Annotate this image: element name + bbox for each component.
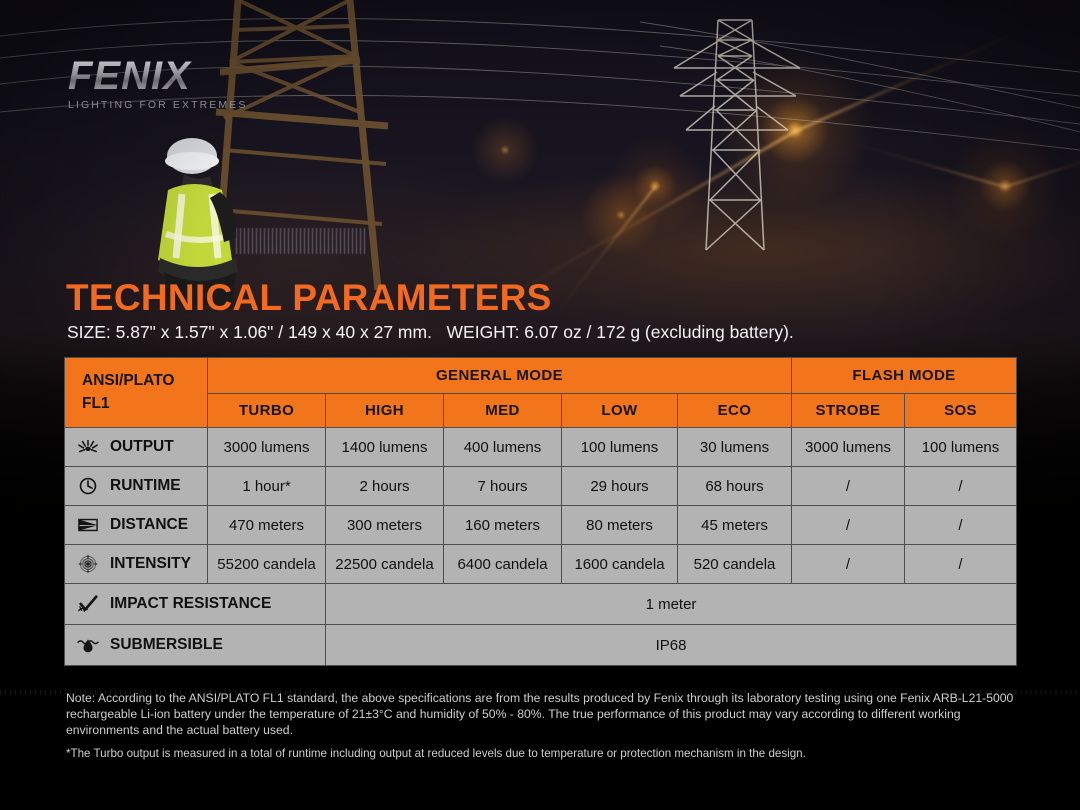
- cell-intensity-sos: /: [905, 545, 1017, 584]
- size-weight-subtitle: SIZE: 5.87" x 1.57" x 1.06" / 149 x 40 x…: [67, 322, 794, 343]
- row-label-text: IMPACT RESISTANCE: [110, 595, 271, 613]
- cell-intensity-eco: 520 candela: [678, 545, 792, 584]
- impact-check-icon: [75, 593, 101, 615]
- cell-runtime-eco: 68 hours: [678, 467, 792, 506]
- cell-distance-sos: /: [905, 506, 1017, 545]
- mode-header-med: MED: [444, 394, 562, 428]
- page-title: TECHNICAL PARAMETERS: [66, 277, 552, 319]
- mode-header-low: LOW: [562, 394, 678, 428]
- row-label-intensity: INTENSITY: [65, 545, 208, 584]
- table-row: RUNTIME 1 hour* 2 hours 7 hours 29 hours…: [65, 467, 1017, 506]
- cell-intensity-med: 6400 candela: [444, 545, 562, 584]
- product-spec-banner: FENIX LIGHTING FOR EXTREMES TECHNICAL PA…: [0, 0, 1080, 810]
- cell-intensity-high: 22500 candela: [326, 545, 444, 584]
- row-label-impact-resistance: IMPACT RESISTANCE: [65, 584, 326, 625]
- mode-header-high: HIGH: [326, 394, 444, 428]
- cell-runtime-low: 29 hours: [562, 467, 678, 506]
- table-row: INTENSITY 55200 candela 22500 candela 64…: [65, 545, 1017, 584]
- cell-distance-turbo: 470 meters: [208, 506, 326, 545]
- cell-runtime-high: 2 hours: [326, 467, 444, 506]
- row-label-text: SUBMERSIBLE: [110, 636, 223, 654]
- row-label-text: DISTANCE: [110, 516, 188, 534]
- brand-tagline: LIGHTING FOR EXTREMES: [68, 99, 298, 111]
- row-label-text: INTENSITY: [110, 555, 191, 573]
- cell-output-low: 100 lumens: [562, 428, 678, 467]
- table-row: OUTPUT 3000 lumens 1400 lumens 400 lumen…: [65, 428, 1017, 467]
- cell-distance-high: 300 meters: [326, 506, 444, 545]
- table-row: DISTANCE 470 meters 300 meters 160 meter…: [65, 506, 1017, 545]
- cell-runtime-med: 7 hours: [444, 467, 562, 506]
- ansi-label-line1: ANSI/PLATO: [82, 370, 207, 392]
- flash-mode-header: FLASH MODE: [792, 358, 1017, 394]
- cell-submersible-value: IP68: [326, 625, 1017, 666]
- note-turbo-output: *The Turbo output is measured in a total…: [66, 747, 1016, 760]
- cell-intensity-strobe: /: [792, 545, 905, 584]
- cell-distance-med: 160 meters: [444, 506, 562, 545]
- burst-icon: [75, 436, 101, 458]
- table-header-mode-row: TURBO HIGH MED LOW ECO STROBE SOS: [65, 394, 1017, 428]
- cell-impact-resistance-value: 1 meter: [326, 584, 1017, 625]
- row-label-distance: DISTANCE: [65, 506, 208, 545]
- cell-distance-strobe: /: [792, 506, 905, 545]
- cell-distance-eco: 45 meters: [678, 506, 792, 545]
- ansi-label-line2: FL1: [82, 393, 207, 415]
- cell-output-high: 1400 lumens: [326, 428, 444, 467]
- cell-runtime-strobe: /: [792, 467, 905, 506]
- spec-table: ANSI/PLATO FL1 GENERAL MODE FLASH MODE T…: [64, 357, 1017, 666]
- row-label-text: OUTPUT: [110, 438, 174, 456]
- table-header-group-row: ANSI/PLATO FL1 GENERAL MODE FLASH MODE: [65, 358, 1017, 394]
- mode-header-strobe: STROBE: [792, 394, 905, 428]
- cell-output-strobe: 3000 lumens: [792, 428, 905, 467]
- clock-icon: [75, 475, 101, 497]
- cell-distance-low: 80 meters: [562, 506, 678, 545]
- mode-header-sos: SOS: [905, 394, 1017, 428]
- technical-parameters-table: ANSI/PLATO FL1 GENERAL MODE FLASH MODE T…: [64, 357, 1016, 666]
- cell-runtime-sos: /: [905, 467, 1017, 506]
- cell-runtime-turbo: 1 hour*: [208, 467, 326, 506]
- row-label-output: OUTPUT: [65, 428, 208, 467]
- cell-output-eco: 30 lumens: [678, 428, 792, 467]
- fenix-logo: FENIX LIGHTING FOR EXTREMES: [68, 56, 298, 111]
- table-row: SUBMERSIBLE IP68: [65, 625, 1017, 666]
- general-mode-header: GENERAL MODE: [208, 358, 792, 394]
- mode-header-eco: ECO: [678, 394, 792, 428]
- brand-name: FENIX: [68, 56, 298, 96]
- row-label-text: RUNTIME: [110, 477, 181, 495]
- footnotes: Note: According to the ANSI/PLATO FL1 st…: [66, 690, 1016, 760]
- water-drop-icon: [75, 634, 101, 656]
- table-row: IMPACT RESISTANCE 1 meter: [65, 584, 1017, 625]
- cell-output-sos: 100 lumens: [905, 428, 1017, 467]
- mode-header-turbo: TURBO: [208, 394, 326, 428]
- cell-output-med: 400 lumens: [444, 428, 562, 467]
- cell-intensity-low: 1600 candela: [562, 545, 678, 584]
- ansi-plato-header: ANSI/PLATO FL1: [65, 358, 208, 428]
- row-label-submersible: SUBMERSIBLE: [65, 625, 326, 666]
- beam-icon: [75, 514, 101, 536]
- target-icon: [75, 553, 101, 575]
- note-ansi-standard: Note: According to the ANSI/PLATO FL1 st…: [66, 690, 1016, 738]
- cell-output-turbo: 3000 lumens: [208, 428, 326, 467]
- row-label-runtime: RUNTIME: [65, 467, 208, 506]
- cell-intensity-turbo: 55200 candela: [208, 545, 326, 584]
